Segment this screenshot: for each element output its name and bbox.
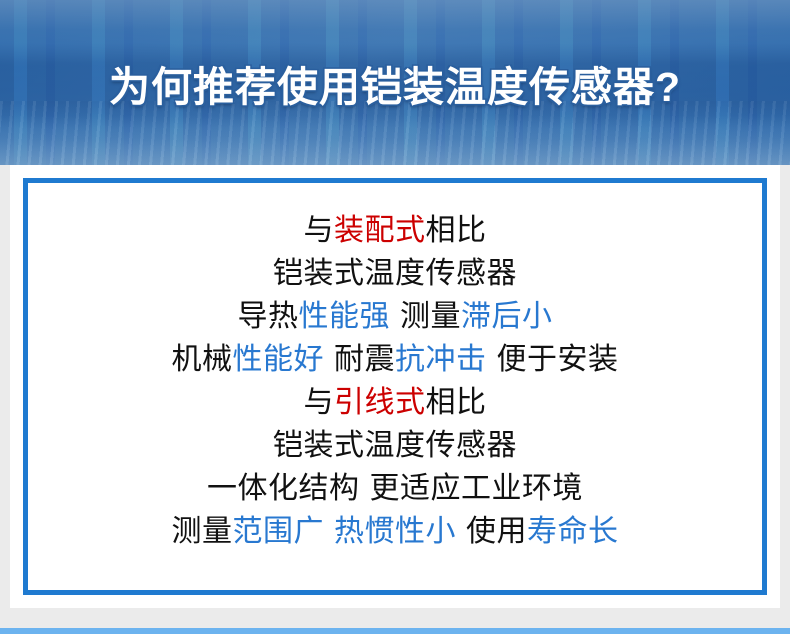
text-segment-blue: 范围广	[233, 515, 325, 548]
text-segment-blue: 性能强	[299, 300, 391, 333]
banner-headline: 为何推荐使用铠装温度传感器?	[0, 62, 790, 112]
text-segment-black: 测量	[400, 300, 461, 333]
content-card-border: 与装配式相比铠装式温度传感器导热性能强测量滞后小机械性能好耐震抗冲击便于安装与引…	[23, 178, 767, 595]
content-card: 与装配式相比铠装式温度传感器导热性能强测量滞后小机械性能好耐震抗冲击便于安装与引…	[10, 165, 780, 608]
feature-line-product-name-2: 铠装式温度传感器	[28, 424, 762, 467]
feature-line-compare-assembled: 与装配式相比	[28, 209, 762, 252]
feature-line-product-name-1: 铠装式温度传感器	[28, 252, 762, 295]
hero-banner: 为何推荐使用铠装温度传感器?	[0, 0, 790, 165]
product-detail-page: 为何推荐使用铠装温度传感器? 与装配式相比铠装式温度传感器导热性能强测量滞后小机…	[0, 0, 790, 634]
text-segment-black: 与	[304, 386, 335, 419]
text-segment-blue: 热惯性小	[334, 515, 456, 548]
text-segment-blue: 性能好	[233, 343, 325, 376]
text-segment-black: 相比	[426, 386, 487, 419]
feature-line-thermal-conductivity: 导热性能强测量滞后小	[28, 295, 762, 338]
text-segment-black: 耐震	[334, 343, 395, 376]
text-segment-black: 更适应工业环境	[370, 472, 584, 505]
feature-line-measurement-range: 测量范围广热惯性小使用寿命长	[28, 510, 762, 553]
text-segment-black: 导热	[238, 300, 299, 333]
text-segment-blue: 滞后小	[461, 300, 553, 333]
feature-line-integrated-structure: 一体化结构更适应工业环境	[28, 467, 762, 510]
text-segment-black: 便于安装	[497, 343, 619, 376]
text-segment-black: 与	[304, 214, 335, 247]
text-segment-black: 一体化结构	[207, 472, 360, 505]
feature-line-mechanical-performance: 机械性能好耐震抗冲击便于安装	[28, 338, 762, 381]
text-segment-black: 铠装式温度传感器	[273, 429, 517, 462]
text-segment-blue: 抗冲击	[395, 343, 487, 376]
text-segment-red: 引线式	[334, 386, 426, 419]
feature-line-compare-lead-wire: 与引线式相比	[28, 381, 762, 424]
feature-list: 与装配式相比铠装式温度传感器导热性能强测量滞后小机械性能好耐震抗冲击便于安装与引…	[28, 209, 762, 553]
footer-gray-strip	[0, 608, 790, 628]
text-segment-blue: 寿命长	[527, 515, 619, 548]
text-segment-black: 相比	[426, 214, 487, 247]
text-segment-red: 装配式	[334, 214, 426, 247]
text-segment-black: 使用	[466, 515, 527, 548]
text-segment-black: 测量	[172, 515, 233, 548]
text-segment-black: 机械	[172, 343, 233, 376]
footer-blue-strip	[0, 628, 790, 634]
text-segment-black: 铠装式温度传感器	[273, 257, 517, 290]
